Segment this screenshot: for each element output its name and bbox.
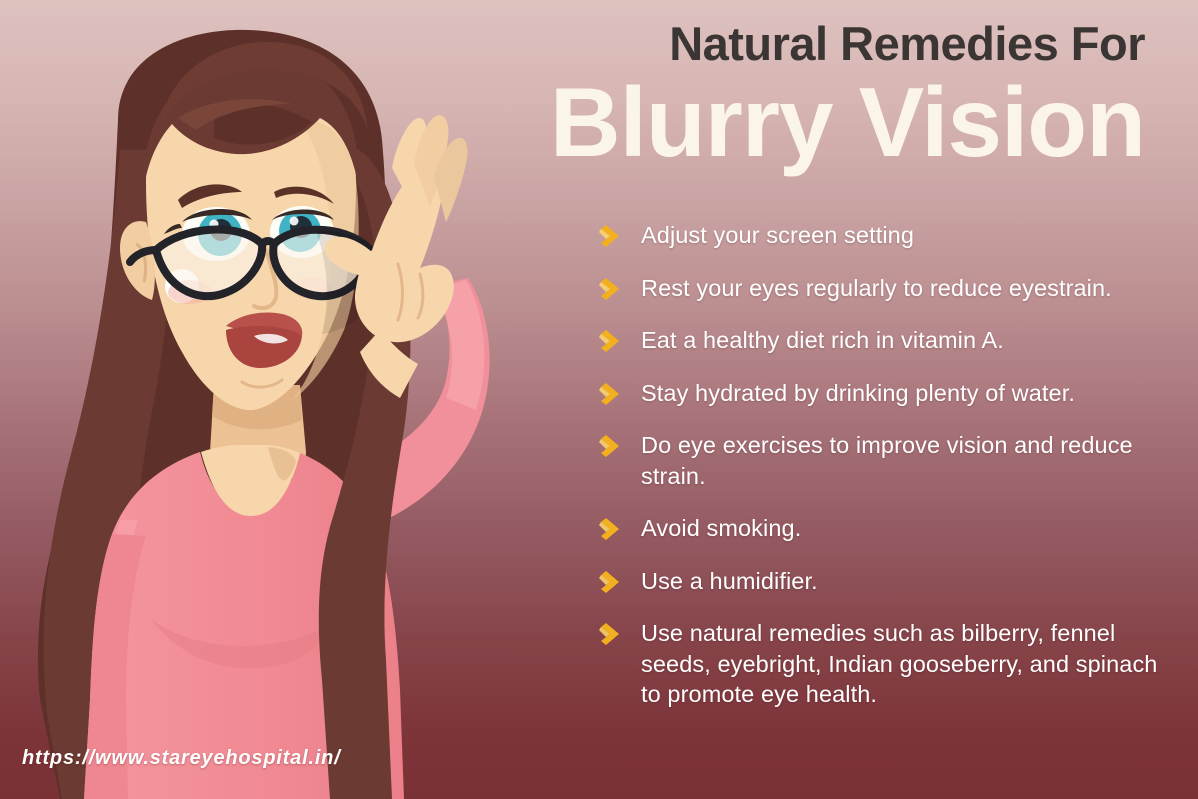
- title-line-2: Blurry Vision: [445, 71, 1145, 175]
- chevron-right-icon: [597, 223, 625, 249]
- chevron-right-icon: [597, 516, 625, 542]
- poster-title-block: Natural Remedies For Blurry Vision: [445, 20, 1145, 175]
- list-item: Use natural remedies such as bilberry, f…: [597, 618, 1169, 710]
- list-item: Adjust your screen setting: [597, 220, 1169, 251]
- list-item: Rest your eyes regularly to reduce eyest…: [597, 273, 1169, 304]
- list-item-text: Stay hydrated by drinking plenty of wate…: [641, 378, 1075, 409]
- list-item-text: Eat a healthy diet rich in vitamin A.: [641, 325, 1004, 356]
- website-url[interactable]: https://www.stareyehospital.in/: [22, 747, 341, 770]
- glasses-bridge: [262, 241, 274, 244]
- chevron-right-icon: [597, 381, 625, 407]
- chevron-right-icon: [597, 328, 625, 354]
- remedies-list: Adjust your screen setting Rest your eye…: [597, 220, 1169, 710]
- list-item-text: Use a humidifier.: [641, 566, 818, 597]
- title-line-1: Natural Remedies For: [445, 20, 1145, 67]
- list-item: Avoid smoking.: [597, 513, 1169, 544]
- chevron-right-icon: [597, 569, 625, 595]
- list-item-text: Use natural remedies such as bilberry, f…: [641, 618, 1169, 710]
- list-item-text: Avoid smoking.: [641, 513, 801, 544]
- chevron-right-icon: [597, 433, 625, 459]
- list-item-text: Rest your eyes regularly to reduce eyest…: [641, 273, 1112, 304]
- list-item: Use a humidifier.: [597, 566, 1169, 597]
- chevron-right-icon: [597, 621, 625, 647]
- eye-highlight-right: [290, 217, 299, 226]
- list-item: Eat a healthy diet rich in vitamin A.: [597, 325, 1169, 356]
- list-item: Stay hydrated by drinking plenty of wate…: [597, 378, 1169, 409]
- chevron-right-icon: [597, 276, 625, 302]
- list-item: Do eye exercises to improve vision and r…: [597, 430, 1169, 491]
- list-item-text: Do eye exercises to improve vision and r…: [641, 430, 1169, 491]
- list-item-text: Adjust your screen setting: [641, 220, 914, 251]
- infographic-poster: Natural Remedies For Blurry Vision Adjus…: [0, 0, 1198, 799]
